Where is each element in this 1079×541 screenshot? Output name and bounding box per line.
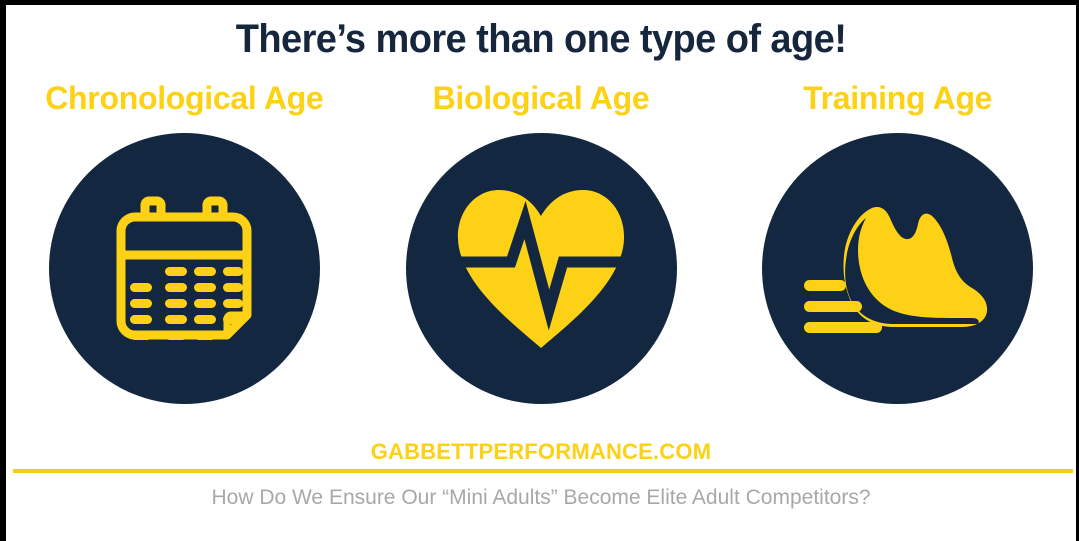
icon-cell-biological — [363, 133, 720, 404]
site-url[interactable]: GABBETTPERFORMANCE.COM — [6, 439, 1076, 465]
column-headings: Chronological Age Biological Age Trainin… — [6, 79, 1076, 117]
circle-badge-chronological — [49, 133, 320, 404]
column-label-biological: Biological Age — [433, 79, 650, 117]
circle-badge-training — [762, 133, 1033, 404]
heart-pulse-icon — [453, 186, 629, 352]
column-label-training: Training Age — [803, 79, 992, 117]
column-label-chronological: Chronological Age — [45, 79, 323, 117]
column-heading-chronological: Chronological Age — [6, 79, 363, 117]
column-heading-training: Training Age — [719, 79, 1076, 117]
infographic-canvas: There’s more than one type of age! Chron… — [0, 0, 1079, 541]
icon-cell-training — [719, 133, 1076, 404]
icon-cell-chronological — [6, 133, 363, 404]
divider-rule — [13, 469, 1073, 473]
page-title: There’s more than one type of age! — [33, 15, 1050, 63]
calendar-icon — [109, 193, 259, 345]
running-shoe-icon — [802, 194, 994, 344]
circle-badge-biological — [406, 133, 677, 404]
subtitle: How Do We Ensure Our “Mini Adults” Becom… — [6, 483, 1076, 513]
icon-circle-row — [6, 133, 1076, 404]
column-heading-biological: Biological Age — [363, 79, 720, 117]
